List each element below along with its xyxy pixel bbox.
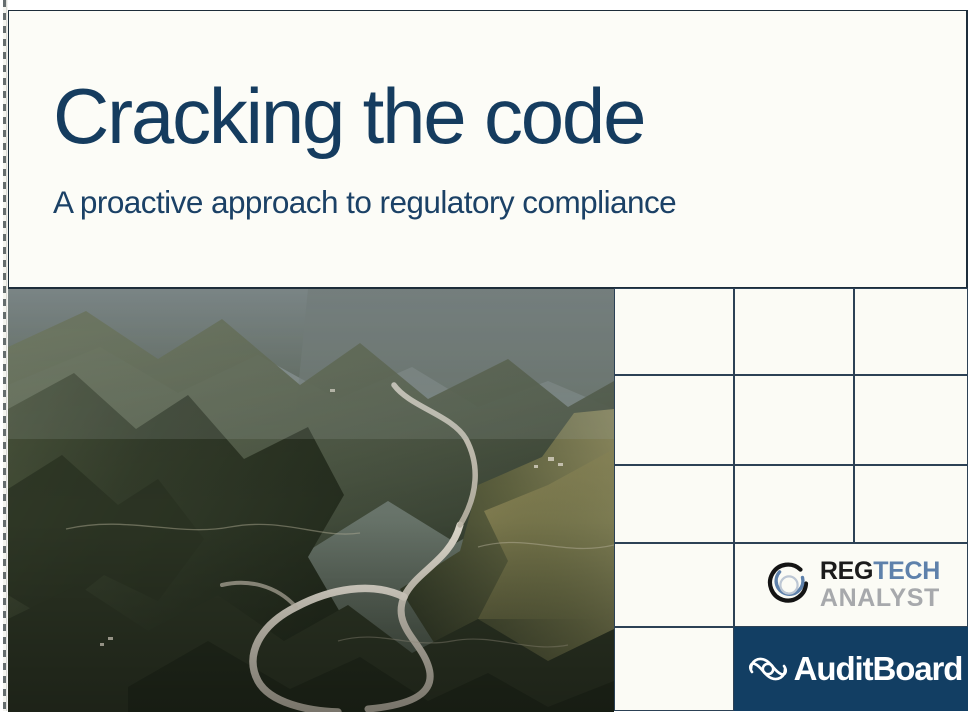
regtech-word-reg: REG [820, 559, 873, 584]
grid-cell-r3c1 [614, 465, 734, 543]
page-title: Cracking the code [53, 78, 936, 154]
grid-cell-r1c2 [734, 288, 854, 375]
grid-cell-r3c3 [854, 465, 968, 543]
grid-cell-r1c1 [614, 288, 734, 375]
auditboard-eye-mark [748, 654, 788, 684]
grid-cell-r3c2 [734, 465, 854, 543]
regtech-word-analyst: ANALYST [820, 586, 940, 611]
auditboard-logo: AuditBoard [748, 650, 963, 688]
regtech-wordmark: REG TECH ANALYST [820, 559, 940, 611]
slide-canvas: Cracking the code A proactive approach t… [0, 0, 975, 711]
regtech-analyst-logo: REG TECH ANALYST [766, 559, 940, 611]
grid-cell-r4c1 [614, 543, 734, 627]
regtech-line-1: REG TECH [820, 559, 940, 584]
grid-cell-r1c3 [854, 288, 968, 375]
cover-header: Cracking the code A proactive approach t… [8, 10, 968, 288]
cover-photo [8, 288, 614, 712]
page-subtitle: A proactive approach to regulatory compl… [53, 185, 936, 220]
regtech-circle-mark [766, 562, 812, 608]
grid-cell-r2c1 [614, 375, 734, 465]
auditboard-wordmark: AuditBoard [794, 650, 963, 688]
grid-cell-r2c2 [734, 375, 854, 465]
regtech-analyst-logo-cell: REG TECH ANALYST [734, 543, 968, 627]
regtech-word-tech: TECH [873, 559, 940, 584]
grid-cell-r5c1 [614, 627, 734, 711]
auditboard-logo-cell: AuditBoard [734, 627, 968, 711]
logo-grid: REG TECH ANALYST AuditBoard [614, 288, 968, 711]
grid-cell-r2c3 [854, 375, 968, 465]
header-text-block: Cracking the code A proactive approach t… [53, 11, 936, 287]
